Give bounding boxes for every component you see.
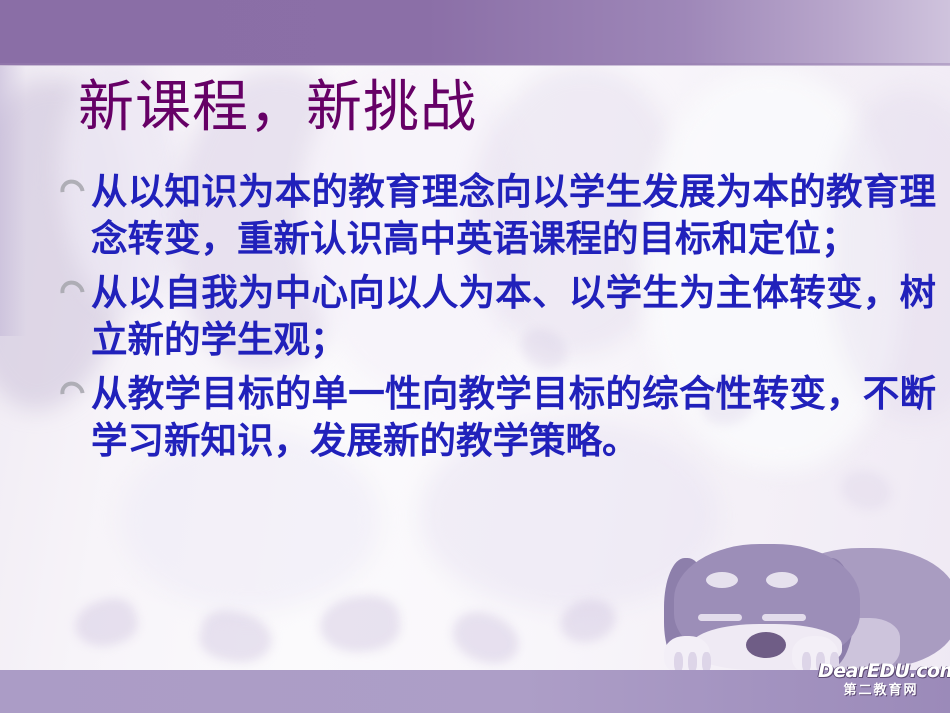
bullet-text-2: 从以自我为中心向以人为本、以学生为主体转变，树立新的学生观；	[91, 269, 936, 364]
crescent-arc-bullet-icon	[56, 276, 90, 310]
dearedu-watermark: DearEDU.com 第二教育网	[818, 662, 944, 704]
slide-content: 新课程，新挑战 从以知识为本的教育理念向以学生发展为本的教育理念转变，重新认识高…	[0, 0, 950, 713]
watermark-main-text: DearEDU.com	[818, 662, 944, 681]
bullet-item-1: 从以知识为本的教育理念向以学生发展为本的教育理念转变，重新认识高中英语课程的目标…	[56, 168, 936, 263]
crescent-arc-bullet-icon	[56, 175, 90, 209]
bullet-text-1: 从以知识为本的教育理念向以学生发展为本的教育理念转变，重新认识高中英语课程的目标…	[91, 168, 936, 263]
bullet-item-2: 从以自我为中心向以人为本、以学生为主体转变，树立新的学生观；	[56, 269, 936, 364]
bullet-text-3: 从教学目标的单一性向教学目标的综合性转变，不断学习新知识，发展新的教学策略。	[91, 370, 936, 465]
crescent-arc-bullet-icon	[56, 376, 90, 410]
presentation-slide: 新课程，新挑战 从以知识为本的教育理念向以学生发展为本的教育理念转变，重新认识高…	[0, 0, 950, 713]
watermark-sub-text: 第二教育网	[818, 684, 944, 697]
bullet-list: 从以知识为本的教育理念向以学生发展为本的教育理念转变，重新认识高中英语课程的目标…	[56, 168, 936, 471]
bullet-item-3: 从教学目标的单一性向教学目标的综合性转变，不断学习新知识，发展新的教学策略。	[56, 370, 936, 465]
slide-title: 新课程，新挑战	[78, 78, 477, 138]
